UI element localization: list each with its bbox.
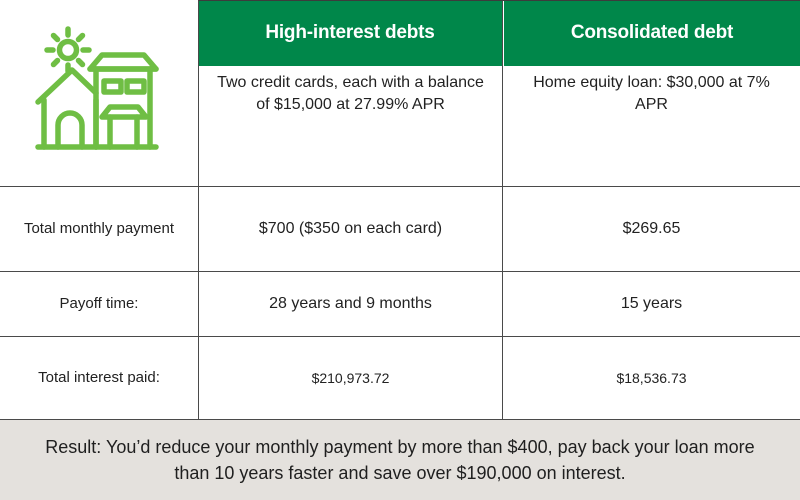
result-text: Result: You’d reduce your monthly paymen… — [30, 434, 770, 486]
cell-consolidated-monthly-payment: $269.65 — [502, 186, 800, 271]
house-with-sun-icon — [0, 0, 198, 186]
cell-high-interest-total-interest: $210,973.72 — [198, 336, 502, 420]
row-label-total-monthly-payment: Total monthly payment — [0, 186, 198, 271]
table-row: Total monthly payment $700 ($350 on each… — [0, 186, 800, 271]
row-label-payoff-time: Payoff time: — [0, 271, 198, 336]
house-with-sun-glyph — [24, 21, 174, 166]
table-row: Payoff time: 28 years and 9 months 15 ye… — [0, 271, 800, 336]
cell-high-interest-description: Two credit cards, each with a balance of… — [198, 0, 502, 186]
debt-comparison-infographic: High-interest debts Consolidated debt — [0, 0, 800, 500]
cell-high-interest-monthly-payment: $700 ($350 on each card) — [198, 186, 502, 271]
cell-consolidated-description: Home equity loan: $30,000 at 7% APR — [502, 0, 800, 186]
table-row: Total interest paid: $210,973.72 $18,536… — [0, 336, 800, 420]
row-label-total-interest-paid: Total interest paid: — [0, 336, 198, 420]
cell-consolidated-payoff-time: 15 years — [502, 271, 800, 336]
table-row: Two credit cards, each with a balance of… — [0, 0, 800, 186]
result-banner: Result: You’d reduce your monthly paymen… — [0, 420, 800, 500]
cell-high-interest-payoff-time: 28 years and 9 months — [198, 271, 502, 336]
comparison-table: Two credit cards, each with a balance of… — [0, 0, 800, 420]
cell-consolidated-total-interest: $18,536.73 — [502, 336, 800, 420]
